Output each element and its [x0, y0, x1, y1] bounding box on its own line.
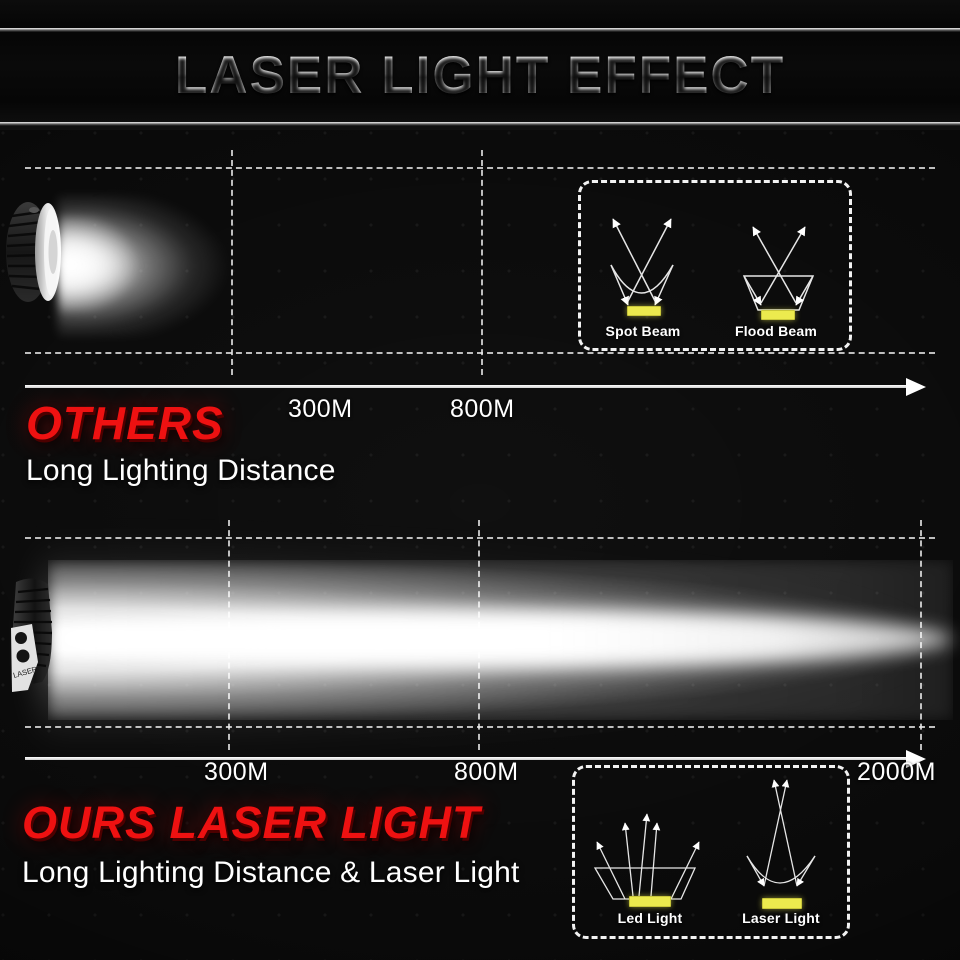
- ours-tick-label-300m: 300M: [204, 758, 269, 787]
- others-heading: OTHERS: [26, 400, 224, 446]
- product-comparison-infographic: LASER LIGHT EFFECT 300M: [0, 0, 960, 960]
- others-tick-label-300m: 300M: [288, 395, 353, 424]
- grid-line-bottom-upper: [25, 352, 935, 354]
- others-lamp-fixture: [6, 198, 68, 306]
- laser-light-label: Laser Light: [726, 910, 836, 926]
- grid-tick-800m-upper: [481, 150, 483, 375]
- others-distance-axis: [25, 385, 910, 388]
- led-light-label: Led Light: [595, 910, 705, 926]
- header-banner: LASER LIGHT EFFECT: [0, 0, 960, 130]
- others-beam-core: [60, 216, 180, 312]
- ours-tick-label-2000m: 2000M: [857, 758, 936, 787]
- ours-beam-core: [52, 610, 952, 668]
- spot-beam-label: Spot Beam: [593, 323, 693, 339]
- ours-tick-label-800m: 800M: [454, 758, 519, 787]
- flood-beam-label: Flood Beam: [726, 323, 826, 339]
- grid-line-top-upper: [25, 167, 935, 169]
- page-title: LASER LIGHT EFFECT: [0, 45, 960, 106]
- spot-flood-diagram-box: Spot Beam Flood Beam: [578, 180, 852, 351]
- header-top-rule: [0, 28, 960, 32]
- ours-heading: OURS LASER LIGHT: [22, 800, 481, 845]
- ours-subheading: Long Lighting Distance & Laser Light: [22, 856, 520, 890]
- laser-light-chip: [762, 898, 802, 909]
- others-axis-arrowhead: [906, 378, 926, 396]
- led-light-chip: [629, 896, 671, 907]
- others-tick-label-800m: 800M: [450, 395, 515, 424]
- header-bottom-rule: [0, 122, 960, 126]
- spot-beam-led-chip: [627, 306, 661, 316]
- ours-lamp-fixture: LASER: [8, 570, 64, 695]
- others-subheading: Long Lighting Distance: [26, 454, 336, 488]
- led-laser-diagram-box: Led Light Laser Light: [572, 765, 850, 939]
- flood-beam-led-chip: [761, 310, 795, 320]
